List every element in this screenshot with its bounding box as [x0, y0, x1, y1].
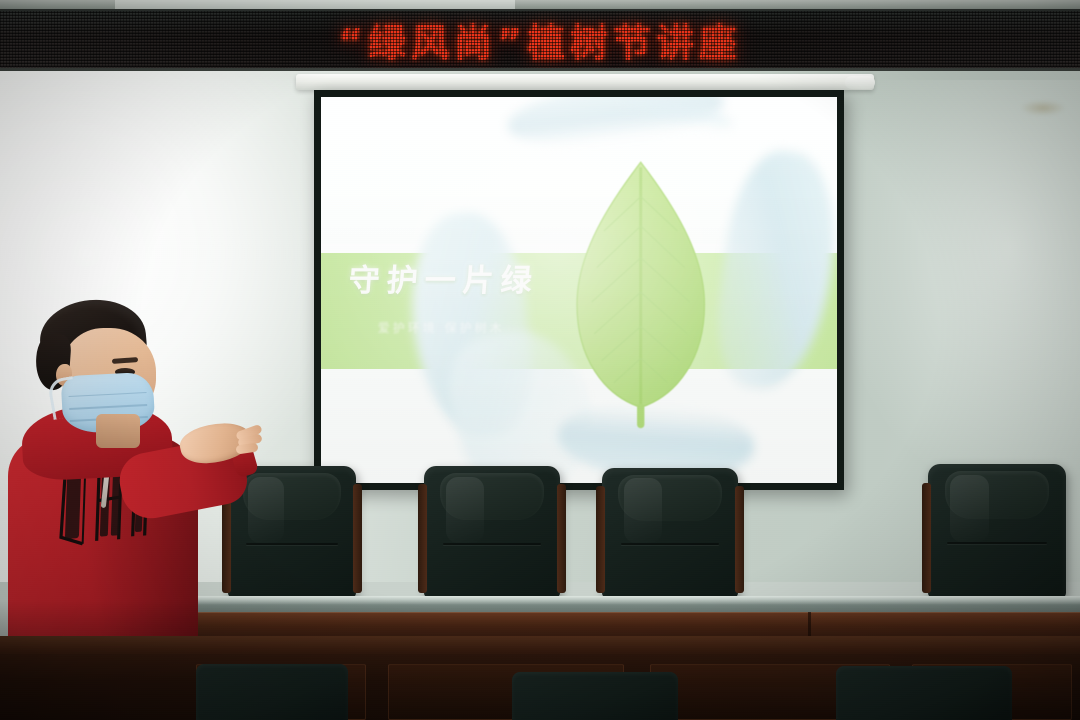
screen-roller-end-cap: [845, 76, 875, 89]
slide-subtitle: 爱护环境 保护树木: [378, 319, 505, 336]
slide-title: 守护一片绿: [348, 255, 541, 300]
chair-4: [928, 464, 1066, 598]
projection-screen-surface: 守护一片绿 爱护环境 保护树木: [321, 97, 837, 483]
leaf-icon: [553, 155, 728, 437]
chair-wood-trim-left: [922, 483, 931, 593]
presentation-slide: 守护一片绿 爱护环境 保护树木: [321, 97, 837, 483]
table-top-highlight: [148, 596, 1080, 605]
chair-2: [424, 466, 560, 598]
led-banner-board: “绿风尚”植树节讲座: [0, 9, 1080, 71]
wall-light-glow-right: [830, 80, 1080, 500]
wall-smudge: [1020, 100, 1066, 116]
projection-screen-frame: 守护一片绿 爱护环境 保护树木: [314, 90, 844, 490]
fg-chair-1: [196, 664, 348, 720]
chair-highlight: [446, 477, 484, 543]
chair-highlight: [950, 475, 989, 542]
led-banner-text: “绿风尚”植树节讲座: [0, 11, 1080, 67]
chair-wood-trim-right: [353, 484, 362, 592]
mask-pleat: [70, 404, 147, 410]
chair-highlight: [624, 478, 662, 543]
chair-wood-trim-left: [418, 484, 427, 592]
chair-wood-trim-right: [557, 484, 566, 592]
chair-seam: [621, 543, 719, 545]
presenter-neck: [96, 414, 140, 448]
hand-finger: [235, 443, 258, 455]
chair-wood-trim-right: [735, 486, 744, 593]
chair-seam: [443, 543, 541, 545]
chair-seam: [947, 542, 1046, 544]
chair-wood-trim-left: [596, 486, 605, 593]
slide-leaf-graphic: [553, 155, 728, 437]
screen-roller-housing: [296, 74, 874, 90]
fg-chair-2: [512, 672, 678, 720]
photo-scene: “绿风尚”植树节讲座: [0, 0, 1080, 720]
fg-chair-3: [836, 666, 1012, 720]
mask-pleat: [69, 392, 146, 398]
chair-3: [602, 468, 738, 598]
